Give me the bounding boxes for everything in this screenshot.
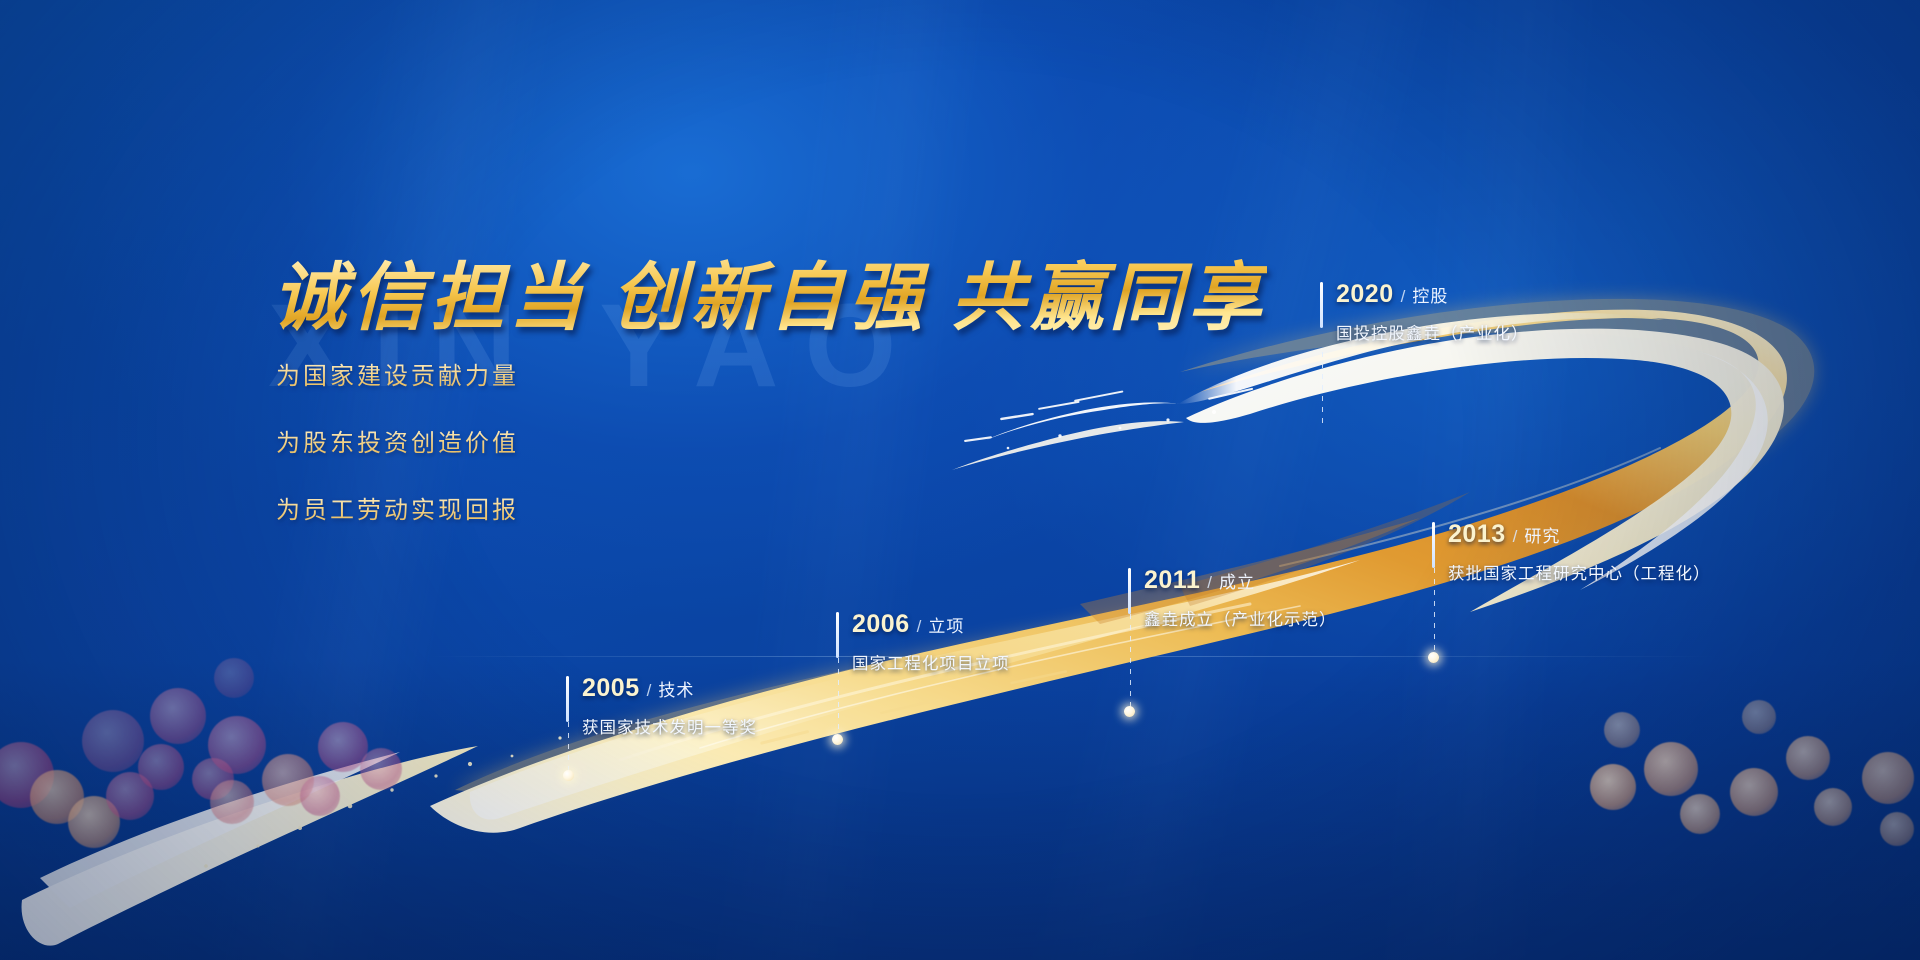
milestone-node-dot-2011[interactable] <box>1124 706 1135 717</box>
milestone-year-row: 2006 / 立项 <box>852 610 1010 639</box>
milestone-year-row: 2013 / 研究 <box>1448 520 1711 549</box>
milestone-separator: / <box>1513 527 1518 547</box>
milestone-tag: 立项 <box>928 612 964 637</box>
milestone-tag: 技术 <box>658 676 694 701</box>
milestone-year-row: 2011 / 成立 <box>1144 566 1337 595</box>
milestone-year: 2013 <box>1448 520 1506 549</box>
milestone-accent-bar <box>836 612 839 658</box>
slogan-item: 为国家建设贡献力量 <box>276 356 519 391</box>
milestone-tag: 研究 <box>1524 522 1560 547</box>
milestone-node-dot-2005[interactable] <box>563 770 574 781</box>
milestone-node-dot-2013[interactable] <box>1428 652 1439 663</box>
milestone-year-row: 2005 / 技术 <box>582 674 757 703</box>
milestone-description: 国投控股鑫垚（产业化） <box>1336 320 1529 344</box>
milestone-year: 2006 <box>852 610 910 639</box>
milestone-year: 2020 <box>1336 280 1394 309</box>
milestone-leader-line-2020 <box>1322 352 1323 426</box>
milestone-text-block: 2005 / 技术 获国家技术发明一等奖 <box>582 674 757 738</box>
milestone-year: 2011 <box>1144 566 1200 595</box>
milestone-text-block: 2011 / 成立 鑫垚成立（产业化示范） <box>1144 566 1337 630</box>
milestone-separator: / <box>917 617 922 637</box>
page-title: 诚信担当 创新自强 共赢同享 <box>272 238 1267 345</box>
milestone-description: 鑫垚成立（产业化示范） <box>1144 606 1337 630</box>
milestone-accent-bar <box>1128 568 1131 614</box>
slogan-item: 为员工劳动实现回报 <box>276 490 519 525</box>
milestone-separator: / <box>1401 287 1406 307</box>
milestone-separator: / <box>647 681 652 701</box>
banner-canvas: XIN YAO <box>0 0 1920 960</box>
milestone-text-block: 2020 / 控股 国投控股鑫垚（产业化） <box>1336 280 1529 344</box>
milestone-year: 2005 <box>582 674 640 703</box>
milestone-node-dot-2006[interactable] <box>832 734 843 745</box>
milestone-tag: 控股 <box>1412 282 1448 307</box>
milestone-leader-line-2006 <box>838 658 839 736</box>
milestone-leader-line-2011 <box>1130 614 1131 708</box>
milestone-text-block: 2013 / 研究 获批国家工程研究中心（工程化） <box>1448 520 1711 584</box>
milestone-text-block: 2006 / 立项 国家工程化项目立项 <box>852 610 1010 674</box>
milestone-separator: / <box>1207 573 1212 593</box>
slogan-list: 为国家建设贡献力量 为股东投资创造价值 为员工劳动实现回报 <box>276 356 519 557</box>
milestone-description: 国家工程化项目立项 <box>852 650 1010 674</box>
milestone-description: 获批国家工程研究中心（工程化） <box>1448 560 1711 584</box>
milestone-tag: 成立 <box>1219 568 1255 593</box>
milestone-accent-bar <box>566 676 569 722</box>
milestone-leader-line-2005 <box>568 722 569 772</box>
milestone-leader-line-2013 <box>1434 568 1435 654</box>
milestone-accent-bar <box>1432 522 1435 568</box>
milestone-accent-bar <box>1320 282 1323 328</box>
slogan-item: 为股东投资创造价值 <box>276 423 519 458</box>
milestone-description: 获国家技术发明一等奖 <box>582 714 757 738</box>
milestone-year-row: 2020 / 控股 <box>1336 280 1529 309</box>
